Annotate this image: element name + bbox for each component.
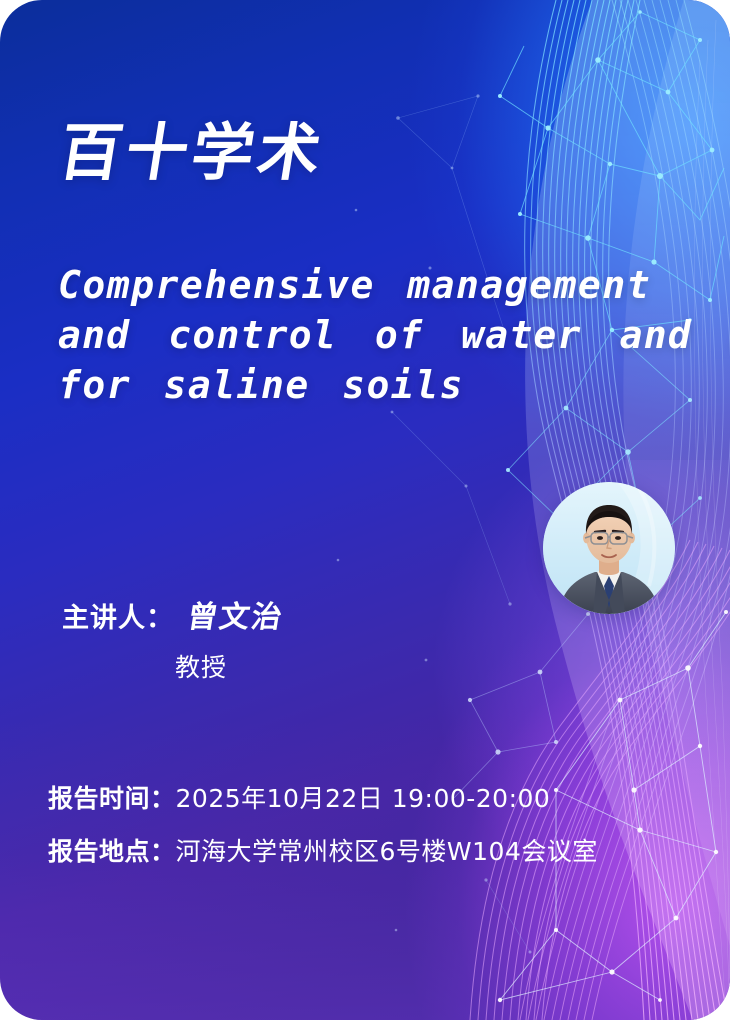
event-time-label: 报告时间：	[48, 783, 176, 815]
subtitle-english: Comprehensive management and control of …	[58, 260, 683, 410]
seminar-poster: 百十学术 Comprehensive management and contro…	[0, 0, 730, 1020]
portrait-photo	[543, 482, 675, 614]
page-title: 百十学术	[54, 118, 329, 188]
poster-content: 百十学术 Comprehensive management and contro…	[0, 0, 730, 1020]
speaker-name: 曾文治	[185, 592, 288, 636]
speaker-row: 主讲人： 曾文治	[62, 592, 284, 636]
event-location-label: 报告地点：	[48, 836, 176, 868]
speaker-label: 主讲人：	[62, 596, 174, 635]
subtitle-line-2: and control of water and salt	[58, 310, 683, 360]
subtitle-line-1: Comprehensive management	[58, 260, 683, 310]
speaker-portrait	[543, 482, 675, 614]
event-info-block: 报告时间： 2025年10月22日 19:00-20:00 报告地点： 河海大学…	[48, 783, 598, 868]
speaker-academic-title: 教授	[175, 648, 227, 684]
event-time-line: 报告时间： 2025年10月22日 19:00-20:00	[48, 783, 598, 815]
event-location-line: 报告地点： 河海大学常州校区6号楼W104会议室	[48, 836, 598, 868]
event-time-value: 2025年10月22日 19:00-20:00	[176, 783, 551, 815]
event-location-value: 河海大学常州校区6号楼W104会议室	[176, 836, 598, 868]
subtitle-line-3: for saline soils	[58, 360, 683, 410]
